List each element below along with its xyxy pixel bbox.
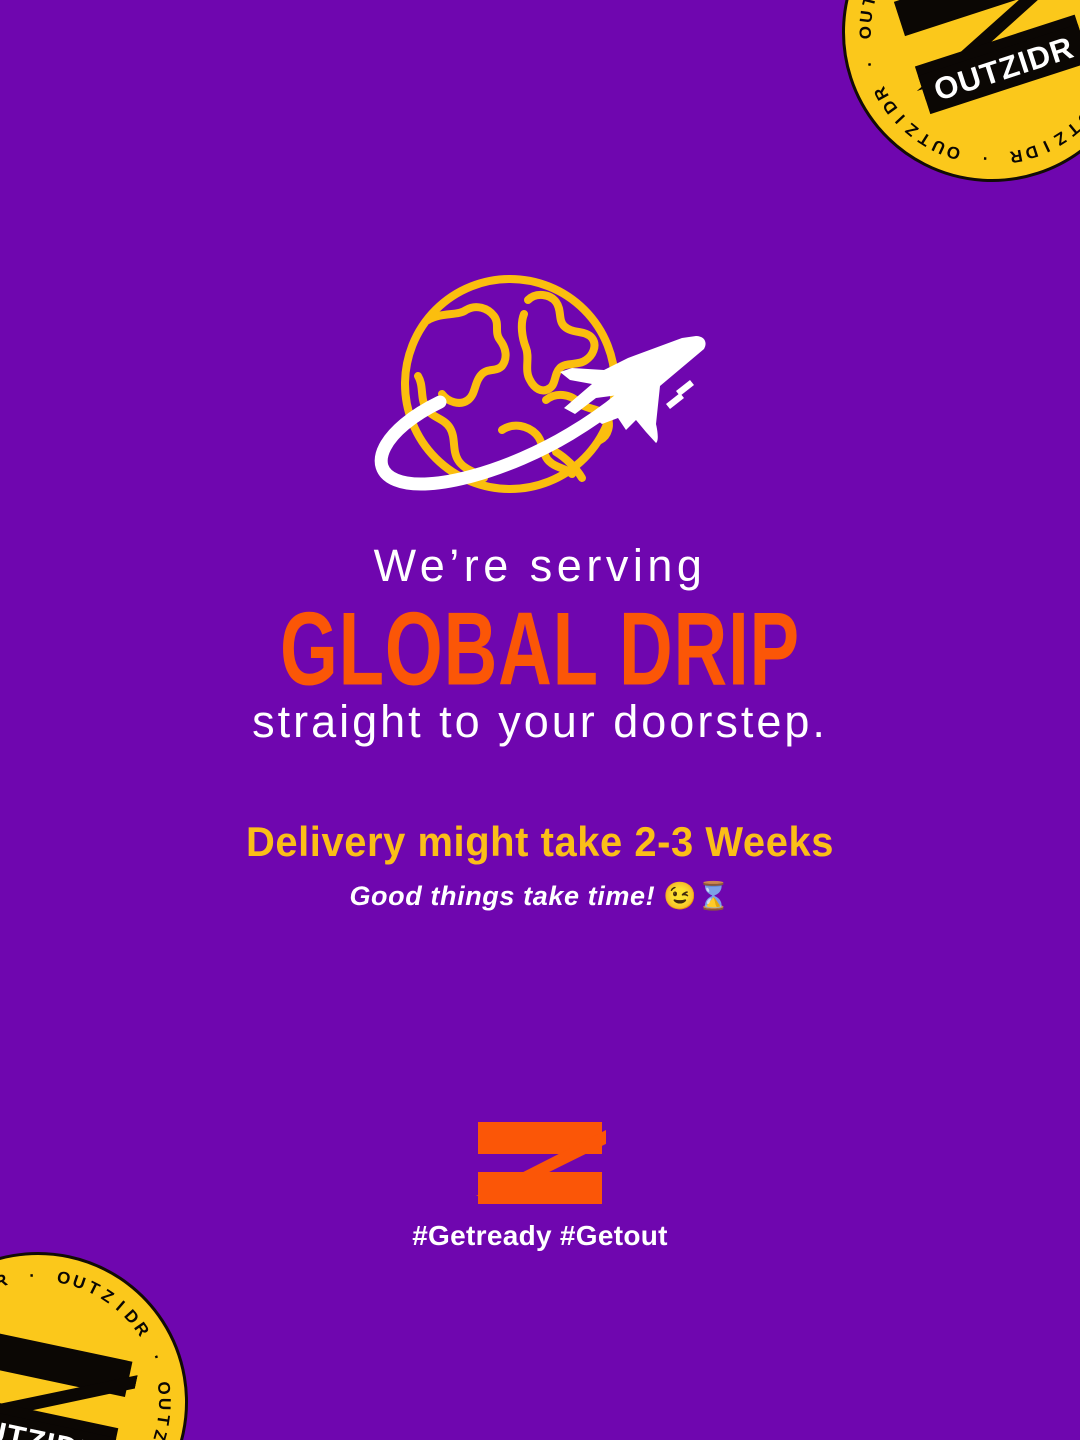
footer-brand-block: #Getready #Getout <box>0 1122 1080 1252</box>
badge-ring-char <box>12 1267 21 1288</box>
badge-ring-char: · <box>29 1266 37 1286</box>
badge-ring-char: O <box>856 25 876 39</box>
brand-stamp-badge-top-right: OUTZIDR · OUTZIDR · OUTZIDR · OUTZIDR · … <box>803 0 1080 221</box>
delivery-notice-block: Delivery might take 2-3 Weeks Good thing… <box>0 818 1080 912</box>
winking-face-emoji: 😉 <box>663 881 697 911</box>
badge-ring-char: O <box>153 1381 174 1397</box>
headline-copy-block: We’re serving GLOBAL DRIP straight to yo… <box>0 542 1080 746</box>
hashtags-text: #Getready #Getout <box>412 1220 668 1252</box>
badge-ring-char <box>150 1368 171 1378</box>
badge-ring-char: U <box>856 8 878 24</box>
globe-airplane-emblem <box>360 272 720 512</box>
badge-ring-char <box>139 1336 159 1351</box>
badge-ring-char: R <box>0 1270 11 1293</box>
badge-ring-char: I <box>1039 136 1053 157</box>
badge-ring-char: R <box>1007 145 1024 167</box>
hourglass-emoji: ⌛ <box>697 881 731 911</box>
delivery-reassurance-text: Good things take time! 😉⌛ <box>0 880 1080 912</box>
badge-ring-char: · <box>980 148 988 168</box>
z-logo-icon <box>478 1122 602 1204</box>
page-title: GLOBAL DRIP <box>108 597 972 701</box>
delivery-reassurance-label: Good things take time! <box>349 881 655 911</box>
badge-ring-char: U <box>154 1398 174 1412</box>
poster-canvas: OUTZIDR · OUTZIDR · OUTZIDR · OUTZIDR · … <box>0 0 1080 1440</box>
badge-ring-char: T <box>152 1413 173 1427</box>
globe-continents-icon <box>418 295 609 478</box>
badge-ring-char <box>864 72 885 85</box>
kicker-line: We’re serving <box>0 542 1080 589</box>
badge-ring-char <box>45 1266 53 1286</box>
z-logo-bottom-bar <box>478 1172 602 1204</box>
badge-ring-char <box>964 145 974 166</box>
badge-ring-char: Z <box>148 1428 170 1440</box>
emblem-svg <box>360 272 720 512</box>
delivery-time-text: Delivery might take 2-3 Weeks <box>27 818 1053 866</box>
badge-ring-char <box>857 44 878 52</box>
badge-ring-char: D <box>1021 140 1040 163</box>
badge-ring-char: · <box>146 1351 167 1364</box>
badge-ring-char: T <box>859 0 881 9</box>
badge-ring-char <box>996 148 1003 168</box>
brand-stamp-badge-bottom-left: OUTZIDR · OUTZIDR · OUTZIDR · OUTZIDR · … <box>0 1224 216 1440</box>
badge-ring-char: · <box>859 58 880 70</box>
